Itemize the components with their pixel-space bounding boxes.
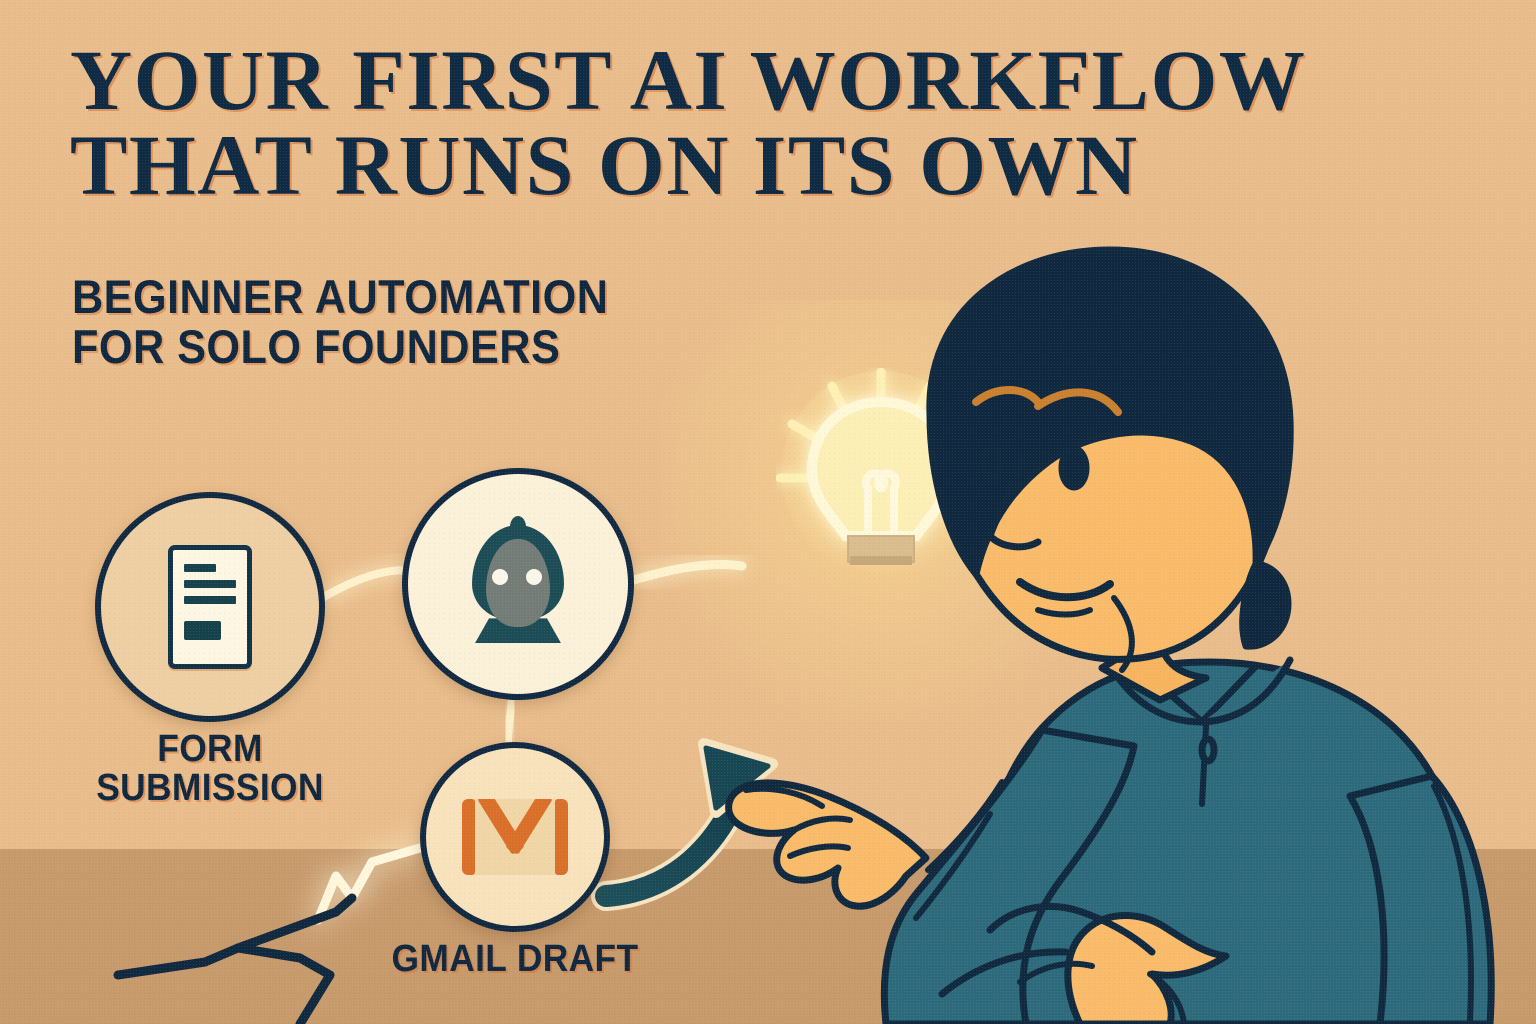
poster-canvas: Your First AI Workflow That Runs On Its … (0, 0, 1536, 1024)
form-label-line-1: Form (66, 730, 354, 769)
eye-right (1062, 449, 1086, 487)
gmail-m-chevron (470, 799, 560, 875)
form-line-2 (184, 580, 236, 588)
robot-eye-right (526, 569, 542, 585)
form-line-3 (184, 596, 236, 604)
title-line-1: Your First AI Workflow (70, 32, 1306, 128)
shirt-button (1202, 739, 1214, 761)
person-pointing-illustration (690, 230, 1536, 1024)
title-line-2: That Runs On Its Own (70, 123, 1340, 208)
page-title: Your First AI Workflow That Runs On Its … (70, 38, 1340, 208)
form-document-icon (168, 545, 252, 669)
subtitle-line-2: For Solo Founders (72, 322, 771, 372)
ai-robot-head-icon (460, 525, 576, 643)
gmail-draft-circle (420, 742, 610, 932)
eye-left (983, 446, 1001, 478)
gmail-label-line-1: Gmail Draft (389, 940, 640, 979)
form-submission-circle (95, 492, 325, 722)
workflow-node-form-submission: Form Submission (95, 492, 325, 852)
subtitle-line-1: Beginner Automation (72, 272, 771, 322)
page-subtitle: Beginner Automation For Solo Founders (72, 272, 771, 372)
robot-eye-left (492, 569, 508, 585)
workflow-node-ai-agent (402, 468, 634, 700)
gmail-draft-label: Gmail Draft (389, 940, 640, 979)
workflow-node-gmail-draft: Gmail Draft (420, 742, 610, 1024)
form-submit-bar (184, 621, 221, 640)
form-label-line-2: Submission (66, 769, 354, 808)
form-submission-label: Form Submission (66, 730, 354, 808)
form-line-1 (184, 564, 216, 572)
ai-agent-circle (402, 468, 634, 700)
gmail-envelope-icon (462, 799, 568, 875)
